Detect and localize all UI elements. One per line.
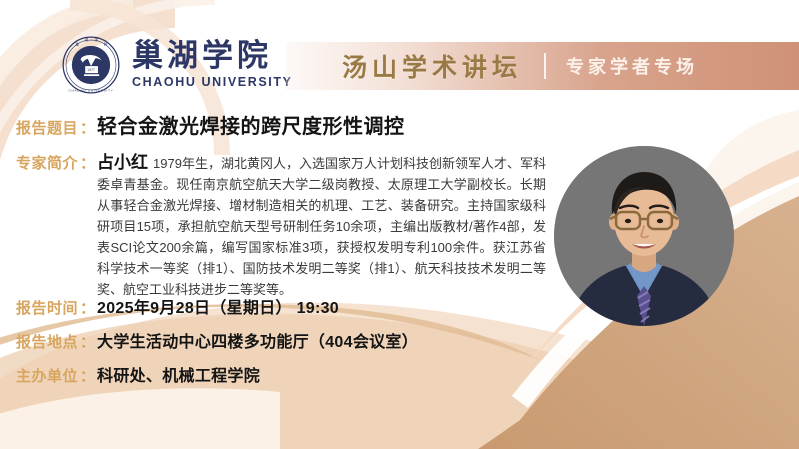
speaker-bio-label: 专家简介 <box>16 152 78 173</box>
report-host-label: 主办单位 <box>16 365 78 386</box>
report-place-row: 报告地点 ： 大学生活动中心四楼多功能厅（404会议室） <box>16 328 418 352</box>
lecture-poster: 1977 CHAOHU UNIVERSITY 巢 湖 学 院 巢湖学院 CHAO… <box>0 0 799 449</box>
report-place-colon: ： <box>78 331 97 352</box>
report-time-value: 2025年9月28日（星期日） 19:30 <box>97 294 339 318</box>
speaker-bio-body: 占小红1979年生，湖北黄冈人，入选国家万人计划科技创新领军人才、军科委卓青基金… <box>97 152 546 300</box>
report-title-row: 报告题目 ： 轻合金激光焊接的跨尺度形性调控 <box>16 110 405 139</box>
report-host-row: 主办单位 ： 科研处、机械工程学院 <box>16 362 260 386</box>
report-title-label: 报告题目 <box>16 117 78 138</box>
report-host-colon: ： <box>78 365 97 386</box>
report-time-label: 报告时间 <box>16 297 78 318</box>
report-title-value: 轻合金激光焊接的跨尺度形性调控 <box>97 110 405 139</box>
report-host-value: 科研处、机械工程学院 <box>97 362 260 386</box>
report-place-value: 大学生活动中心四楼多功能厅（404会议室） <box>97 328 418 352</box>
speaker-portrait <box>554 146 734 326</box>
report-time-colon: ： <box>78 297 97 318</box>
speaker-bio-row: 专家简介 ： 占小红1979年生，湖北黄冈人，入选国家万人计划科技创新领军人才、… <box>16 152 546 300</box>
speaker-bio-paragraph: 占小红1979年生，湖北黄冈人，入选国家万人计划科技创新领军人才、军科委卓青基金… <box>97 152 546 300</box>
report-place-label: 报告地点 <box>16 331 78 352</box>
report-time-row: 报告时间 ： 2025年9月28日（星期日） 19:30 <box>16 294 339 318</box>
speaker-bio-text: 1979年生，湖北黄冈人，入选国家万人计划科技创新领军人才、军科委卓青基金。现任… <box>97 156 546 297</box>
report-title-colon: ： <box>78 117 97 138</box>
speaker-name: 占小红 <box>97 153 148 172</box>
speaker-bio-colon: ： <box>78 152 97 173</box>
speaker-portrait-image <box>554 146 734 326</box>
